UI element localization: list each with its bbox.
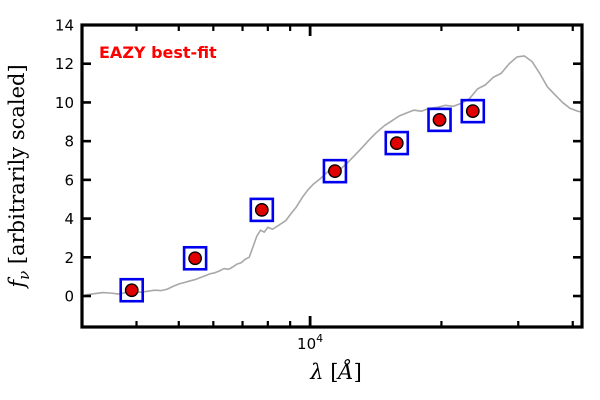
y-tick-label: 0: [64, 288, 74, 306]
photometry-point: [391, 137, 403, 149]
y-tick-label: 14: [55, 17, 74, 35]
y-tick-label: 10: [55, 94, 74, 112]
photometry-point: [467, 105, 479, 117]
sed-figure: 02468101214104 λ [Å] fν [arbitrarily sca…: [0, 0, 600, 400]
photometry-point: [329, 165, 341, 177]
photometry-point: [189, 252, 201, 264]
y-tick-label: 12: [55, 55, 74, 73]
y-tick-label: 6: [64, 171, 74, 189]
photometry-point: [256, 204, 268, 216]
x-axis-label: λ [Å]: [309, 359, 362, 384]
photometry-point: [433, 114, 445, 126]
eazy-best-fit-annotation: EAZY best-fit: [99, 43, 217, 62]
y-axis-label: fν [arbitrarily scaled]: [5, 64, 33, 289]
y-tick-label: 8: [64, 133, 74, 151]
plot-canvas: 02468101214104 λ [Å] fν [arbitrarily sca…: [0, 0, 600, 400]
y-tick-label: 4: [64, 210, 74, 228]
y-tick-label: 2: [64, 249, 74, 267]
photometry-point: [126, 284, 138, 296]
